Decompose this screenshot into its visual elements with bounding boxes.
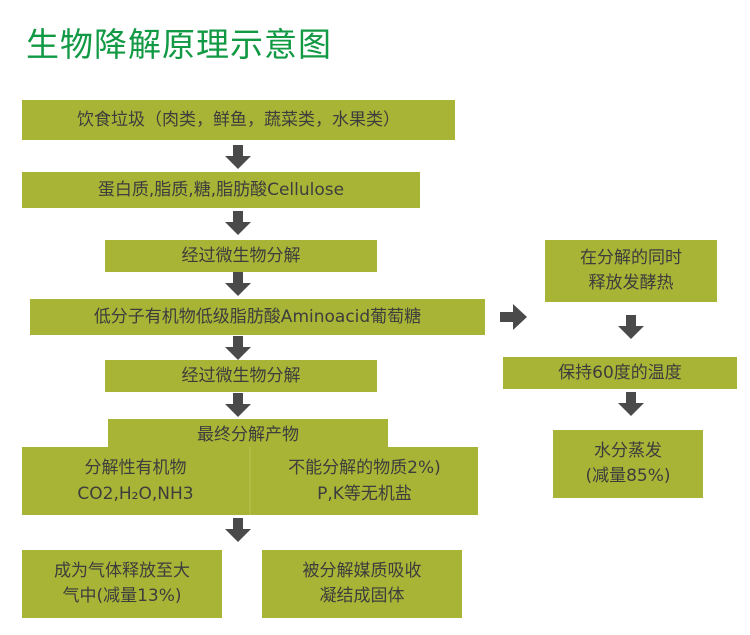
arrow-down-icon	[225, 336, 251, 360]
arrow-down-icon	[618, 315, 644, 339]
cell-divider	[249, 447, 251, 515]
flow-box-microbial-decomposition-2[interactable]: 经过微生物分解	[105, 360, 377, 392]
arrow-down-icon	[225, 145, 251, 169]
arrow-down-icon	[225, 272, 251, 296]
arrow-down-icon	[225, 393, 251, 417]
flow-box-low-molecular-organics[interactable]: 低分子有机物低级脂肪酸Aminoacid葡萄糖	[30, 299, 485, 335]
arrow-right-icon	[500, 304, 530, 330]
arrow-down-icon	[225, 518, 251, 542]
outcome-box-solid-absorption[interactable]: 被分解媒质吸收 凝结成固体	[262, 550, 462, 618]
outcome-box-gas-release[interactable]: 成为气体释放至大 气中(减量13%)	[22, 550, 222, 618]
product-cell-non-degradable[interactable]: 不能分解的物质2%) P,K等无机盐	[251, 447, 478, 515]
flow-box-waste[interactable]: 饮食垃圾（肉类，鲜鱼，蔬菜类，水果类）	[22, 100, 455, 140]
flow-box-microbial-decomposition-1[interactable]: 经过微生物分解	[105, 240, 377, 272]
side-box-water-evaporation[interactable]: 水分蒸发 (减量85%)	[553, 430, 703, 498]
side-box-maintain-temperature[interactable]: 保持60度的温度	[503, 357, 737, 389]
products-split-box: 分解性有机物 CO2,H₂O,NH3 不能分解的物质2%) P,K等无机盐	[22, 447, 478, 515]
product-cell-degradable[interactable]: 分解性有机物 CO2,H₂O,NH3	[22, 447, 249, 515]
side-box-fermentation-heat[interactable]: 在分解的同时 释放发酵热	[545, 240, 717, 302]
page-title: 生物降解原理示意图	[26, 22, 332, 68]
arrow-down-icon	[618, 392, 644, 416]
arrow-down-icon	[225, 211, 251, 235]
flow-box-macromolecules[interactable]: 蛋白质,脂质,糖,脂肪酸Cellulose	[22, 172, 420, 208]
diagram-canvas: 生物降解原理示意图 饮食垃圾（肉类，鲜鱼，蔬菜类，水果类） 蛋白质,脂质,糖,脂…	[0, 0, 750, 635]
